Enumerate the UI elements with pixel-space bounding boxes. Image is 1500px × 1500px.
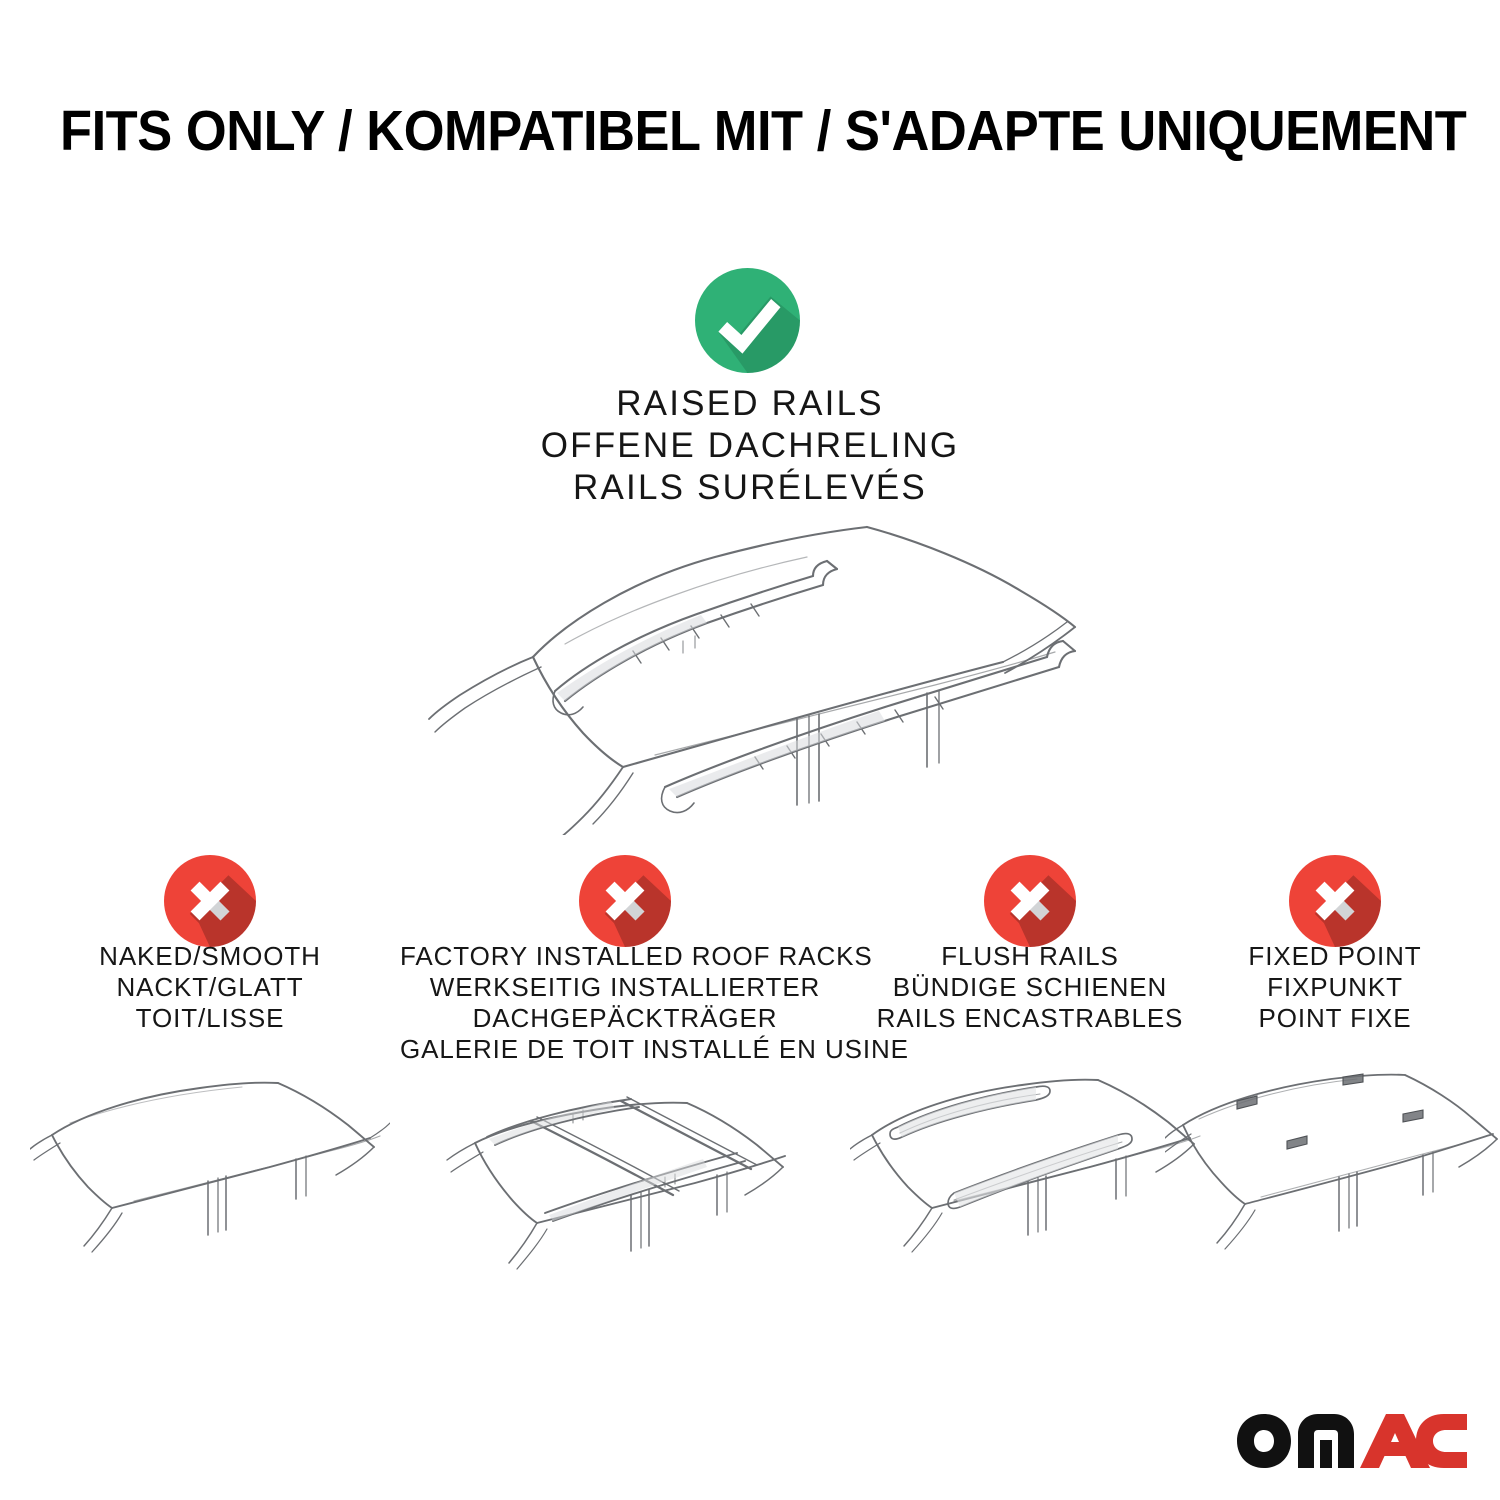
infographic-root: FITS ONLY / KOMPATIBEL MIT / S'ADAPTE UN… [0, 0, 1500, 1500]
caption-line-fr: TOIT/LISSE [55, 1003, 365, 1034]
car-roof-factory-roof-rack-illustration [445, 1091, 805, 1326]
compatible-line-fr: RAILS SURÉLEVÉS [0, 467, 1500, 509]
caption-line-fr: RAILS ENCASTRABLES [865, 1003, 1195, 1034]
page-title: FITS ONLY / KOMPATIBEL MIT / S'ADAPTE UN… [60, 103, 1440, 160]
car-roof-fixed-point-illustration [1165, 1063, 1500, 1298]
caption-line-en: NAKED/SMOOTH [55, 941, 365, 972]
car-roof-flush-rails-illustration [850, 1063, 1210, 1298]
incompatible-caption: FLUSH RAILS BÜNDIGE SCHIENEN RAILS ENCAS… [865, 941, 1195, 1034]
compatible-caption: RAISED RAILS OFFENE DACHRELING RAILS SUR… [0, 383, 1500, 509]
caption-line-en: FLUSH RAILS [865, 941, 1195, 972]
incompatible-caption: FIXED POINT FIXPUNKT POINT FIXE [1200, 941, 1470, 1034]
caption-line-fr: GALERIE DE TOIT INSTALLÉ EN USINE [400, 1034, 850, 1065]
red-cross-circle-icon [1289, 855, 1381, 947]
car-roof-raised-rails-illustration [415, 505, 1085, 835]
compatible-line-de: OFFENE DACHRELING [0, 425, 1500, 467]
caption-line-en: FIXED POINT [1200, 941, 1470, 972]
car-roof-naked-smooth-illustration [30, 1063, 390, 1298]
logo-letter-m [1298, 1414, 1354, 1468]
caption-line-de: FIXPUNKT [1200, 972, 1470, 1003]
brand-name: OMAC [0, 0, 1, 1]
logo-letter-o [1237, 1414, 1291, 1468]
caption-line-en: FACTORY INSTALLED ROOF RACKS [400, 941, 850, 972]
green-check-circle-icon [695, 268, 800, 373]
incompatible-caption: FACTORY INSTALLED ROOF RACKS WERKSEITIG … [400, 941, 850, 1065]
caption-line-de: NACKT/GLATT [55, 972, 365, 1003]
caption-line-de-1: WERKSEITIG INSTALLIERTER [400, 972, 850, 1003]
logo-letter-c [1416, 1414, 1467, 1468]
red-cross-circle-icon [164, 855, 256, 947]
red-cross-circle-icon [579, 855, 671, 947]
caption-line-de-2: DACHGEPÄCKTRÄGER [400, 1003, 850, 1034]
omac-logo [1234, 1410, 1470, 1472]
caption-line-fr: POINT FIXE [1200, 1003, 1470, 1034]
caption-line-de: BÜNDIGE SCHIENEN [865, 972, 1195, 1003]
compatible-line-en: RAISED RAILS [0, 383, 1500, 425]
incompatible-caption: NAKED/SMOOTH NACKT/GLATT TOIT/LISSE [55, 941, 365, 1034]
red-cross-circle-icon [984, 855, 1076, 947]
